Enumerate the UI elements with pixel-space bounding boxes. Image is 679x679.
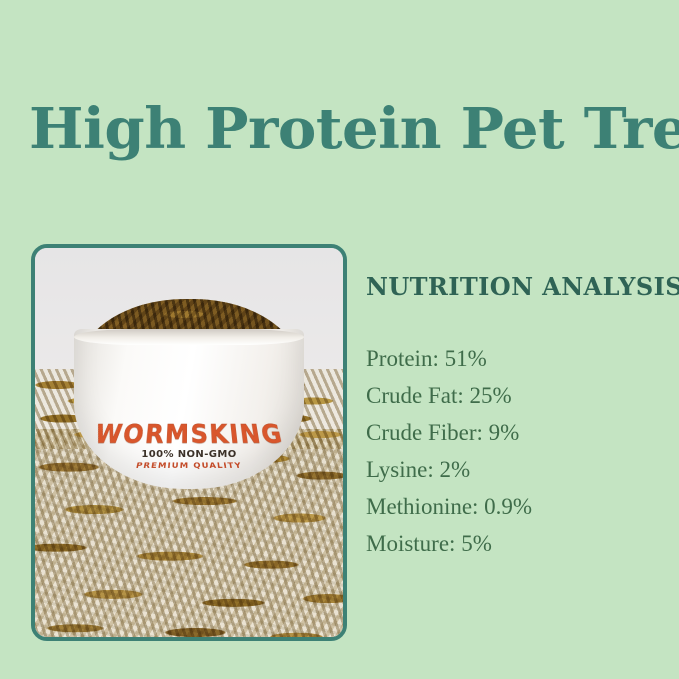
nutrition-heading: NUTRITION ANALYSIS bbox=[366, 275, 666, 299]
bowl-brand-text: WORMSKING bbox=[74, 419, 304, 449]
list-item: Moisture: 5% bbox=[366, 532, 666, 555]
ceramic-bowl: WORMSKING 100% NON-GMO PREMIUM QUALITY bbox=[74, 329, 304, 489]
list-item: Methionine: 0.9% bbox=[366, 495, 666, 518]
page-title: High Protein Pet Treats bbox=[29, 100, 679, 159]
nutrition-list: Protein: 51% Crude Fat: 25% Crude Fiber:… bbox=[366, 347, 666, 555]
bowl-tagline-text: 100% NON-GMO bbox=[74, 449, 304, 460]
bowl-label: WORMSKING 100% NON-GMO PREMIUM QUALITY bbox=[74, 420, 304, 471]
bowl-rim bbox=[74, 329, 304, 345]
list-item: Protein: 51% bbox=[366, 347, 666, 370]
nutrition-panel: NUTRITION ANALYSIS Protein: 51% Crude Fa… bbox=[366, 275, 666, 569]
list-item: Crude Fat: 25% bbox=[366, 384, 666, 407]
bowl-subtagline-text: PREMIUM QUALITY bbox=[74, 461, 304, 470]
product-photo: WORMSKING 100% NON-GMO PREMIUM QUALITY bbox=[35, 248, 343, 637]
list-item: Lysine: 2% bbox=[366, 458, 666, 481]
product-photo-frame: WORMSKING 100% NON-GMO PREMIUM QUALITY bbox=[31, 244, 347, 641]
product-infographic: High Protein Pet Treats WORMSKING 100% N… bbox=[0, 0, 679, 679]
list-item: Crude Fiber: 9% bbox=[366, 421, 666, 444]
